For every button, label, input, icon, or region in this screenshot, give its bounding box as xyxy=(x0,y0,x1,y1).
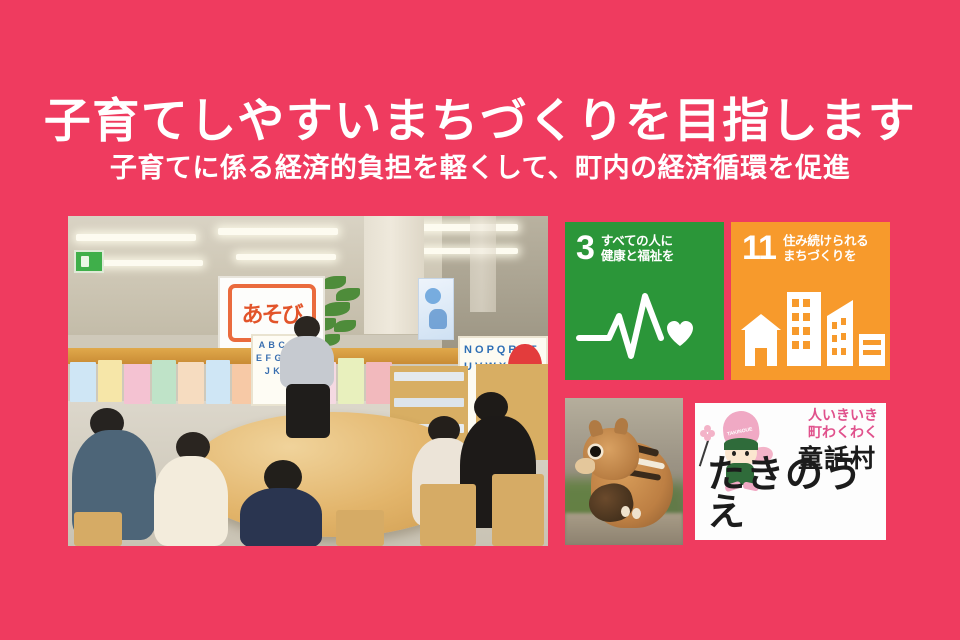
child-center xyxy=(240,488,322,546)
ceiling-light xyxy=(236,254,336,260)
headline-block: 子育てしやすいまちづくりを目指します 子育てに係る経済的負担を軽くして、町内の経… xyxy=(0,96,960,184)
chipmunk-ear xyxy=(614,417,630,435)
ceiling-light xyxy=(420,248,518,254)
exit-sign-icon xyxy=(74,250,104,273)
sdg-11-number: 11 xyxy=(742,232,776,264)
picture-book xyxy=(70,362,96,402)
picture-book xyxy=(152,360,176,404)
picture-book xyxy=(366,362,392,404)
chair xyxy=(336,510,384,546)
sdg-3-label: すべての人に 健康と福祉を xyxy=(601,232,674,265)
sdg-3-number: 3 xyxy=(576,232,594,264)
picture-book xyxy=(338,358,364,404)
library-photo: あそび A B C D E F G H I J K L N O P Q R S … xyxy=(68,216,548,546)
logo-tagline-line1: 人いきいき xyxy=(808,407,878,424)
ceiling-light xyxy=(98,260,203,266)
pillar xyxy=(364,216,424,334)
chipmunk-paw xyxy=(621,506,630,517)
staff-legs xyxy=(286,384,330,438)
staff-body xyxy=(280,336,334,388)
logo-tagline-line2: 町わくわく xyxy=(808,424,878,441)
sdg-11-label-line1: 住み続けられる xyxy=(783,234,868,249)
book-row xyxy=(394,398,464,407)
takinoue-logo: TAKINOUE 人いきいき 町わくわく 童話村 たきのうえ xyxy=(690,398,891,545)
slide-root: 子育てしやすいまちづくりを目指します 子育てに係る経済的負担を軽くして、町内の経… xyxy=(0,0,960,640)
chipmunk-snout xyxy=(575,458,595,474)
ceiling-light xyxy=(218,228,338,235)
picture-book xyxy=(124,364,150,404)
sdg-11-label-line2: まちづくりを xyxy=(783,249,868,264)
page-title: 子育てしやすいまちづくりを目指します xyxy=(0,96,960,146)
sdg-3-header: 3 すべての人に 健康と福祉を xyxy=(576,232,714,265)
chair xyxy=(492,474,544,546)
book-row xyxy=(394,372,464,381)
logo-town-name: たきのうえ xyxy=(707,456,886,532)
ceiling-light xyxy=(76,234,196,241)
sdg-badge-3: 3 すべての人に 健康と福祉を xyxy=(565,222,724,380)
wall-poster xyxy=(418,278,454,340)
chipmunk-eye xyxy=(590,446,601,457)
page-subtitle: 子育てに係る経済的負担を軽くして、町内の経済循環を促進 xyxy=(0,154,960,184)
chipmunk-ear xyxy=(587,419,604,438)
sdg-11-label: 住み続けられる まちづくりを xyxy=(783,232,868,265)
picture-book xyxy=(98,360,122,402)
sdg-3-label-line1: すべての人に xyxy=(601,234,674,249)
chipmunk-paw xyxy=(632,508,641,519)
flower-icon xyxy=(700,425,715,440)
mascot-hair xyxy=(724,438,758,450)
picture-book xyxy=(178,362,204,404)
child-center-left xyxy=(154,456,228,546)
picture-book xyxy=(206,360,230,404)
logo-tagline: 人いきいき 町わくわく xyxy=(808,407,878,441)
chair xyxy=(74,512,122,546)
sdg-3-label-line2: 健康と福祉を xyxy=(601,249,674,264)
chipmunk-photo xyxy=(565,398,683,545)
heartbeat-icon xyxy=(565,282,724,374)
sdg-badge-11: 11 住み続けられる まちづくりを xyxy=(731,222,890,380)
pillar xyxy=(470,216,496,312)
chair xyxy=(420,484,476,546)
city-buildings-icon xyxy=(731,282,890,374)
sdg-11-header: 11 住み続けられる まちづくりを xyxy=(742,232,880,265)
